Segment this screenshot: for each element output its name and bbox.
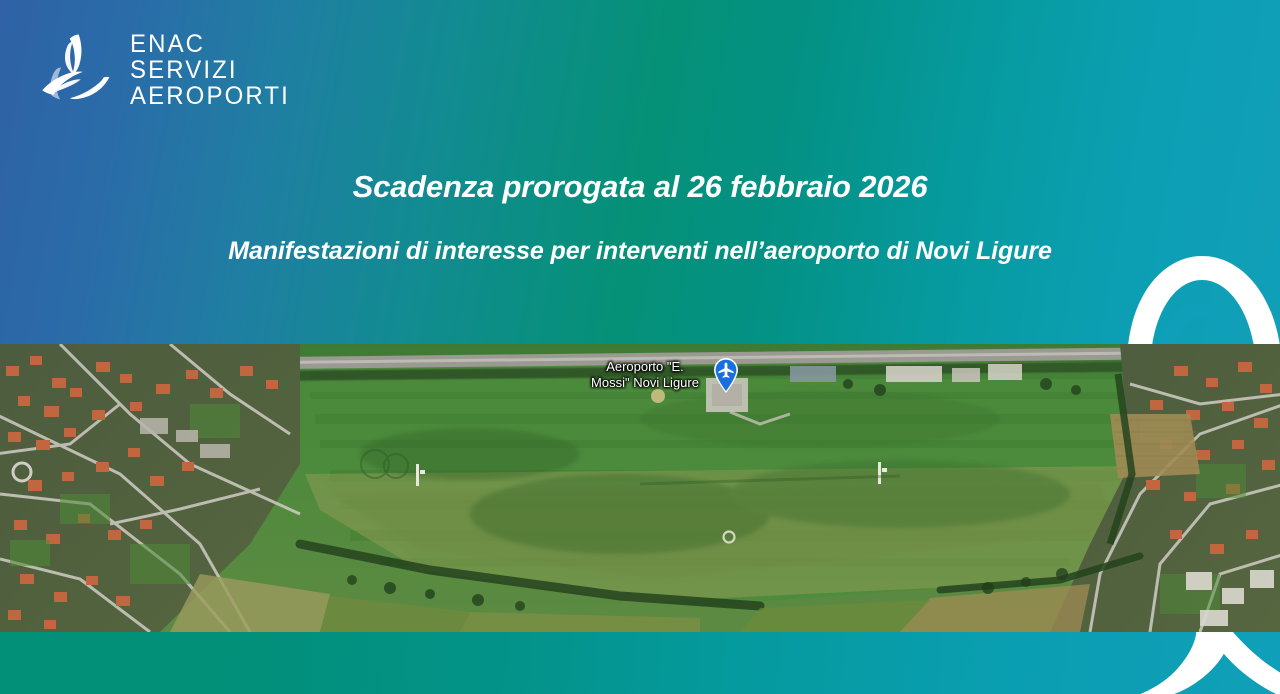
brand-word-aeroporti: AEROPORTI	[130, 84, 290, 109]
decorative-arch-shape	[1114, 250, 1280, 344]
brand-word-enac: ENAC	[130, 32, 290, 57]
enac-triskelion-logo-mark	[34, 28, 116, 110]
decorative-swoosh-shapes	[980, 632, 1280, 694]
aerial-map-image[interactable]: Aeroporto "E. Mossi" Novi Ligure	[0, 344, 1280, 632]
brand-word-servizi: SERVIZI	[130, 58, 290, 83]
footer-band	[0, 632, 1280, 694]
brand-logo[interactable]: ENAC SERVIZI AEROPORTI	[34, 28, 297, 110]
brand-wordmark: ENAC SERVIZI AEROPORTI	[130, 30, 297, 109]
page-subtitle: Manifestazioni di interesse per interven…	[0, 234, 1280, 268]
satellite-imagery	[0, 344, 1280, 632]
header-band: ENAC SERVIZI AEROPORTI Scadenza prorogat…	[0, 0, 1280, 344]
enac-novi-ligure-banner: ENAC SERVIZI AEROPORTI Scadenza prorogat…	[0, 0, 1280, 694]
airplane-pin-icon[interactable]	[711, 356, 741, 394]
page-title: Scadenza prorogata al 26 febbraio 2026	[0, 168, 1280, 206]
